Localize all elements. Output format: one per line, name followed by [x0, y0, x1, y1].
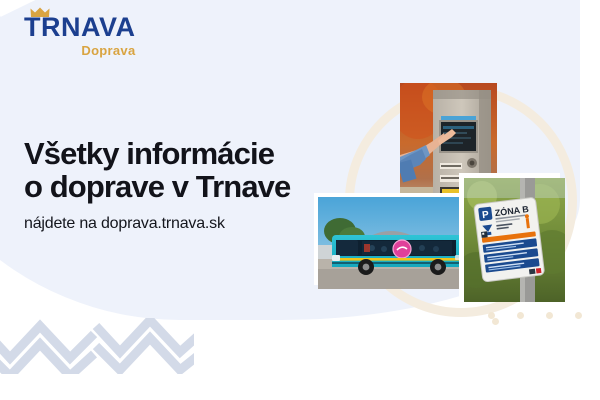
brand-logo[interactable]: TRNAVA Doprava: [24, 14, 136, 58]
photo-parking-zone-sign: P ZÓNA B: [464, 178, 565, 302]
page-title: Všetky informácie o doprave v Trnave: [24, 137, 324, 204]
decorative-dot-row: [488, 312, 600, 319]
decorative-zigzag: [0, 318, 194, 374]
photo-city-bus: [318, 197, 470, 289]
photo-sign-art: P ZÓNA B: [464, 178, 565, 302]
decorative-dot: [546, 312, 553, 319]
brand-name: TRNAVA: [24, 14, 136, 41]
brand-tagline: Doprava: [24, 43, 136, 58]
decorative-dot: [492, 318, 499, 325]
crown-icon: [30, 7, 50, 18]
decorative-dot: [517, 312, 524, 319]
headline-line-1: Všetky informácie: [24, 136, 274, 171]
headline-line-2: o doprave v Trnave: [24, 170, 324, 203]
page-subtitle: nájdete na doprava.trnava.sk: [24, 215, 225, 233]
decorative-dot: [575, 312, 582, 319]
promo-banner: TRNAVA Doprava Všetky informácie o dopra…: [0, 0, 600, 400]
decorative-dot: [488, 312, 495, 319]
photo-bus-art: [318, 197, 470, 289]
